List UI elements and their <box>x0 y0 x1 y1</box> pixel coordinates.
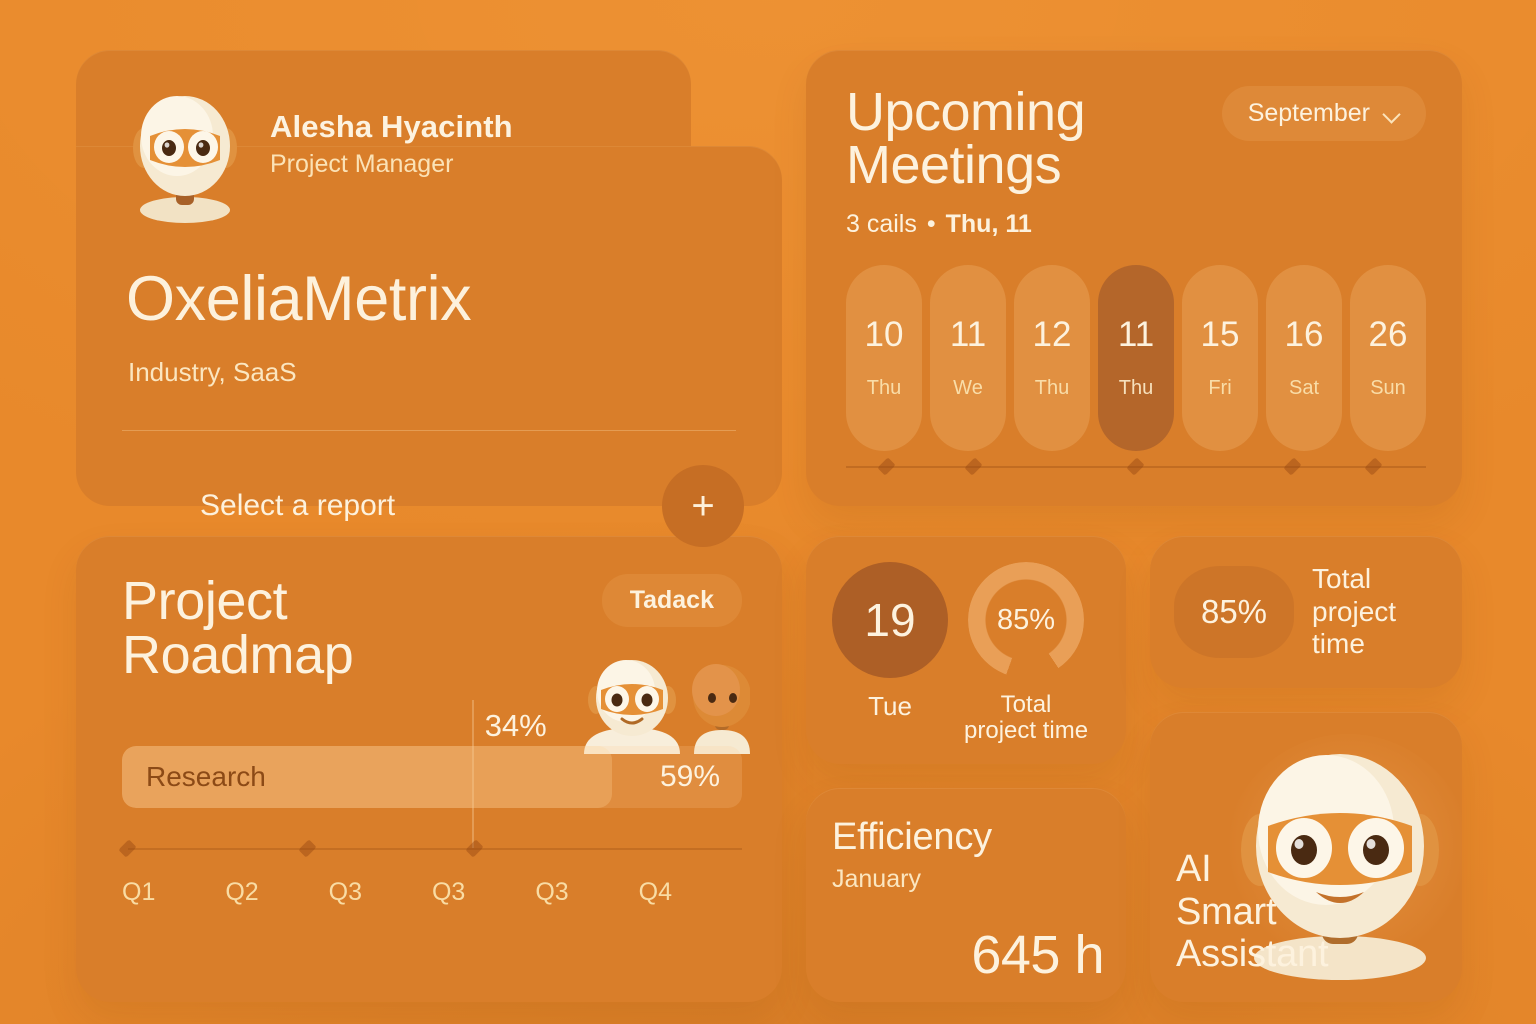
day-pill[interactable]: 16 Sat <box>1266 265 1342 451</box>
timeline-tick <box>1364 457 1382 475</box>
day-weekday: Sun <box>1370 377 1406 400</box>
roadmap-title-line1: Project <box>122 574 353 628</box>
team-robots-icon <box>582 658 750 754</box>
efficiency-card: Efficiency January 645 h <box>806 788 1126 1002</box>
meetings-date: Thu, 11 <box>946 210 1032 238</box>
roadmap-heading: Project Roadmap <box>122 574 353 682</box>
meetings-timeline <box>846 460 1426 474</box>
day-strip: 10 Thu 11 We 12 Thu 11 Thu 15 Fri <box>846 265 1426 451</box>
profile-divider <box>122 430 736 431</box>
meetings-subtitle: 3 cails•Thu, 11 <box>846 210 1085 239</box>
day-weekday: Thu <box>1119 377 1153 400</box>
timeline-tick <box>964 457 982 475</box>
roadmap-progress-bar[interactable]: Research 59% <box>122 746 742 808</box>
total-percent-value: 85% <box>1201 593 1267 631</box>
day-number-value: 19 <box>864 593 915 647</box>
day-name-label: Tue <box>868 692 912 720</box>
robot-avatar-icon <box>122 84 248 224</box>
axis-tick-label: Q3 <box>535 878 638 907</box>
profile-card: Alesha Hyacinth Project Manager OxeliaMe… <box>76 50 782 506</box>
axis-tick <box>298 839 316 857</box>
day-weekday: We <box>953 377 983 400</box>
axis-tick-label: Q4 <box>639 878 742 907</box>
day-stat: 19 Tue <box>832 562 948 744</box>
select-report-label[interactable]: Select a report <box>200 489 395 523</box>
team-avatars <box>582 658 750 754</box>
ai-label-line3: Assistant <box>1176 933 1328 976</box>
day-weekday: Fri <box>1208 377 1231 400</box>
day-pill[interactable]: 11 We <box>930 265 1006 451</box>
roadmap-axis <box>122 842 742 856</box>
axis-tick <box>118 839 136 857</box>
day-weekday: Thu <box>867 377 901 400</box>
avatar <box>122 84 248 224</box>
efficiency-value: 645 h <box>971 924 1104 986</box>
total-label: Total project time <box>1312 563 1440 660</box>
axis-tick-label: Q3 <box>329 878 432 907</box>
meetings-count: 3 cails <box>846 210 917 238</box>
timeline-tick <box>877 457 895 475</box>
day-pill[interactable]: 10 Thu <box>846 265 922 451</box>
user-role: Project Manager <box>270 151 513 179</box>
timeline-tick <box>1283 457 1301 475</box>
day-number: 16 <box>1285 315 1324 355</box>
roadmap-marker-percent: 34% <box>485 708 547 744</box>
roadmap-tag-button[interactable]: Tadack <box>602 574 742 627</box>
progress-bar-percent: 59% <box>660 760 720 794</box>
day-number: 10 <box>865 315 904 355</box>
chevron-down-icon <box>1384 106 1400 122</box>
company-name: OxeliaMetrix <box>126 268 736 331</box>
day-number-badge: 19 <box>832 562 948 678</box>
project-time-stat: 85% Total project time <box>964 562 1088 744</box>
donut-caption: Total project time <box>964 692 1088 744</box>
meetings-title-line2: Meetings <box>846 139 1085 192</box>
upcoming-meetings-card: Upcoming Meetings 3 cails•Thu, 11 Septem… <box>806 50 1462 506</box>
day-pill-selected[interactable]: 11 Thu <box>1098 265 1174 451</box>
ai-assistant-card[interactable]: AI Smart Assistant <box>1150 712 1462 1002</box>
meetings-title-line1: Upcoming <box>846 86 1085 139</box>
ai-label-line2: Smart <box>1176 891 1328 934</box>
axis-tick-label: Q3 <box>432 878 535 907</box>
day-number: 11 <box>1118 315 1154 355</box>
axis-line <box>128 848 742 850</box>
axis-tick-label: Q1 <box>122 878 225 907</box>
meetings-heading: Upcoming Meetings 3 cails•Thu, 11 <box>846 86 1085 239</box>
day-pill[interactable]: 15 Fri <box>1182 265 1258 451</box>
total-percent-badge: 85% <box>1174 566 1294 658</box>
donut-caption-line1: Total <box>964 692 1088 718</box>
profile-meta: Alesha Hyacinth Project Manager <box>270 88 513 179</box>
roadmap-quarter-labels: Q1 Q2 Q3 Q3 Q3 Q4 <box>122 878 742 907</box>
donut-caption-line2: project time <box>964 718 1088 744</box>
day-weekday: Sat <box>1289 377 1319 400</box>
day-pill[interactable]: 12 Thu <box>1014 265 1090 451</box>
day-number: 15 <box>1201 315 1240 355</box>
total-label-line1: Total <box>1312 563 1440 595</box>
roadmap-progress: 34% Research 59% <box>122 746 742 808</box>
timeline-tick <box>1127 457 1145 475</box>
ai-assistant-label: AI Smart Assistant <box>1176 848 1328 976</box>
user-name: Alesha Hyacinth <box>270 110 513 144</box>
month-selector[interactable]: September <box>1222 86 1426 141</box>
day-number: 26 <box>1369 315 1408 355</box>
efficiency-month: January <box>832 865 1100 894</box>
donut-chart: 85% <box>968 562 1084 678</box>
total-project-time-card: 85% Total project time <box>1150 536 1462 688</box>
separator-dot: • <box>927 210 936 238</box>
profile-header: Alesha Hyacinth Project Manager <box>122 88 736 224</box>
efficiency-title: Efficiency <box>832 816 1100 859</box>
progress-bar-label: Research <box>146 761 266 793</box>
roadmap-title-line2: Roadmap <box>122 628 353 682</box>
project-roadmap-card: Project Roadmap Tadack <box>76 536 782 1002</box>
axis-tick-label: Q2 <box>225 878 328 907</box>
axis-tick <box>466 839 484 857</box>
ai-label-line1: AI <box>1176 848 1328 891</box>
day-number: 11 <box>950 315 986 355</box>
report-row: Select a report + <box>76 465 782 547</box>
total-label-line2: project time <box>1312 596 1440 661</box>
add-report-button[interactable]: + <box>662 465 744 547</box>
day-stat-card: 19 Tue 85% Total project time <box>806 536 1126 764</box>
day-weekday: Thu <box>1035 377 1069 400</box>
day-number: 12 <box>1033 315 1072 355</box>
day-pill[interactable]: 26 Sun <box>1350 265 1426 451</box>
progress-segment-secondary <box>472 746 612 808</box>
company-industry: Industry, SaaS <box>128 357 736 388</box>
month-selector-label: September <box>1248 99 1370 128</box>
donut-percent: 85% <box>968 562 1084 678</box>
dashboard-stage: Alesha Hyacinth Project Manager OxeliaMe… <box>76 50 1462 1002</box>
